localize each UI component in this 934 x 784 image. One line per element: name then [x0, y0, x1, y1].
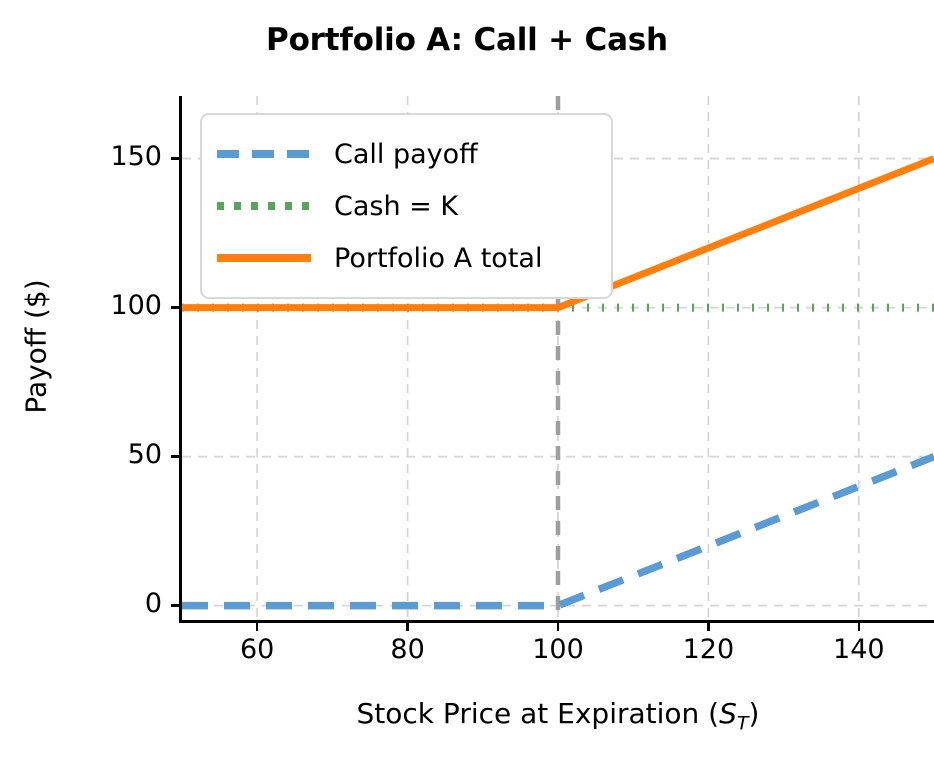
chart-legend: Call payoff Cash = K Portfolio A total [200, 113, 613, 299]
chart-figure: Portfolio A: Call + Cash 608010012014005… [0, 0, 934, 784]
x-axis-label-text: Stock Price at Expiration ( [357, 697, 720, 730]
legend-swatch-portfolio-a-total [216, 248, 312, 268]
chart-title: Portfolio A: Call + Cash [0, 22, 934, 58]
y-tick-mark [171, 306, 179, 308]
x-tick-mark [707, 623, 709, 631]
x-tick-label: 80 [363, 634, 453, 665]
y-tick-label: 50 [52, 439, 162, 470]
legend-item-call-payoff[interactable]: Call payoff [216, 128, 595, 180]
x-axis-label: Stock Price at Expiration (ST) [182, 697, 934, 735]
x-tick-mark [406, 623, 408, 631]
legend-swatch-call-payoff [216, 144, 312, 164]
legend-label-call-payoff: Call payoff [334, 141, 478, 168]
x-axis-label-variable: S [719, 697, 737, 730]
y-tick-label: 0 [52, 588, 162, 619]
legend-label-portfolio-a-total: Portfolio A total [334, 245, 542, 272]
y-tick-label: 100 [52, 290, 162, 321]
x-tick-label: 120 [663, 634, 753, 665]
x-tick-label: 60 [212, 634, 302, 665]
legend-item-portfolio-a-total[interactable]: Portfolio A total [216, 232, 595, 284]
x-tick-mark [557, 623, 559, 631]
legend-item-cash-k[interactable]: Cash = K [216, 180, 595, 232]
y-tick-label: 150 [52, 141, 162, 172]
y-axis-spine [179, 96, 182, 623]
x-axis-label-subscript: T [737, 713, 749, 735]
x-tick-label: 140 [814, 634, 904, 665]
y-tick-mark [171, 455, 179, 457]
x-tick-mark [256, 623, 258, 631]
y-tick-mark [171, 157, 179, 159]
legend-label-cash-k: Cash = K [334, 193, 458, 220]
legend-swatch-cash-k [216, 196, 312, 216]
x-tick-label: 100 [513, 634, 603, 665]
x-tick-mark [858, 623, 860, 631]
y-tick-mark [171, 604, 179, 606]
x-axis-label-close: ) [749, 697, 760, 730]
y-axis-label: Payoff ($) [20, 187, 53, 507]
